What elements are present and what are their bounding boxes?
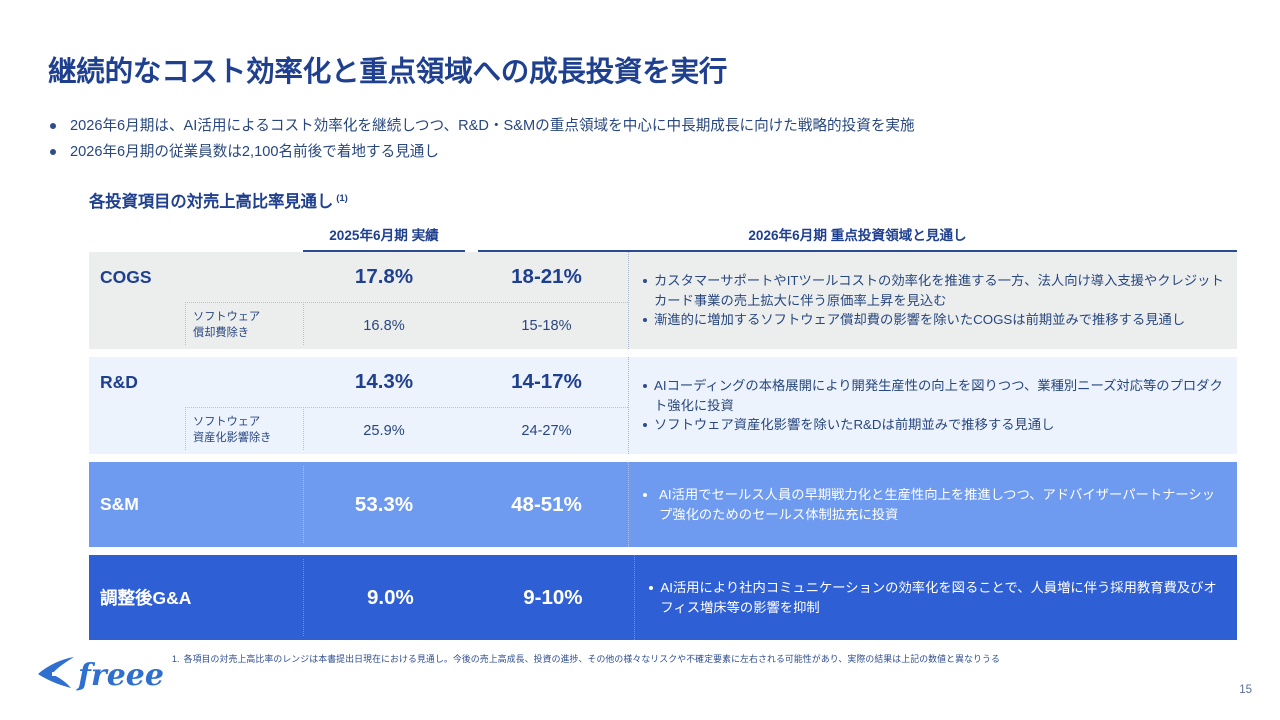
row-sublabel-spacer xyxy=(191,555,309,640)
slide-canvas: 継続的なコスト効率化と重点領域への成長投資を実行 2026年6月期は、AI活用に… xyxy=(0,0,1280,720)
note-text: 漸進的に増加するソフトウェア償却費の影響を除いたCOGSは前期並みで推移する見通… xyxy=(654,310,1227,330)
cell-outlook: 24-27% xyxy=(465,407,628,454)
bullet-text: 2026年6月期は、AI活用によるコスト効率化を継続しつつ、R&D・S&Mの重点… xyxy=(70,114,915,135)
cell-outlook: 18-21% xyxy=(465,252,628,302)
table-row-sub: ソフトウェア 資産化影響除き 25.9% 24-27% xyxy=(89,407,628,454)
cell-value: 16.8% xyxy=(363,318,404,334)
row-sublabel: ソフトウェア 償却費除き xyxy=(185,302,303,349)
logo-wordmark: freee xyxy=(76,658,164,693)
table-row: S&M 53.3% 48-51% AI活用でセールス人員の早期戦力化と生産性向上… xyxy=(89,462,1237,547)
cell-actual: 14.3% xyxy=(303,357,465,407)
cell-actual: 17.8% xyxy=(303,252,465,302)
bullet-list: 2026年6月期は、AI活用によるコスト効率化を継続しつつ、R&D・S&Mの重点… xyxy=(47,114,1237,166)
column-header-outlook: 2026年6月期 重点投資領域と見通し xyxy=(478,224,1237,252)
row-label-empty xyxy=(89,302,185,349)
table-row: R&D 14.3% 14-17% ソフトウェア 資産化影響除 xyxy=(89,357,1237,454)
cell-value: 9.0% xyxy=(367,586,414,610)
row-sublabel-spacer xyxy=(185,357,303,407)
note-text: ソフトウェア資産化影響を除いたR&Dは前期並みで推移する見通し xyxy=(654,415,1227,435)
cell-outlook: 14-17% xyxy=(465,357,628,407)
page-number: 15 xyxy=(1239,684,1252,696)
note-item: ソフトウェア資産化影響を除いたR&Dは前期並みで推移する見通し xyxy=(643,415,1227,435)
cell-value: 17.8% xyxy=(355,265,413,289)
cell-value: 24-27% xyxy=(521,423,571,439)
row-sublabel-line1: ソフトウェア xyxy=(193,310,303,325)
bullet-dot-icon xyxy=(649,586,653,590)
table-caption: 各投資項目の対売上高比率見通し(1) xyxy=(89,188,348,212)
table-row: 調整後G&A 9.0% 9-10% AI活用により社内コミュニケーションの効率化… xyxy=(89,555,1237,640)
note-item: AI活用により社内コミュニケーションの効率化を図ることで、人員増に伴う採用教育費… xyxy=(649,578,1227,617)
cell-actual: 25.9% xyxy=(303,407,465,454)
row-label: R&D xyxy=(89,357,185,407)
cell-value: 15-18% xyxy=(521,318,571,334)
row-label: COGS xyxy=(89,252,185,302)
bullet-text: 2026年6月期の従業員数は2,100名前後で着地する見通し xyxy=(70,140,439,161)
row-sublabel-line2: 償却費除き xyxy=(193,326,303,341)
bullet-dot-icon xyxy=(50,149,56,155)
table-row-main: 調整後G&A 9.0% 9-10% xyxy=(89,555,634,640)
row-sublabel-line1: ソフトウェア xyxy=(193,415,303,430)
cell-outlook: 15-18% xyxy=(465,302,628,349)
table-caption-text: 各投資項目の対売上高比率見通し xyxy=(89,193,333,211)
table-row-main: R&D 14.3% 14-17% xyxy=(89,357,628,407)
bullet-dot-icon xyxy=(643,384,647,388)
row-sublabel-spacer xyxy=(185,462,303,547)
note-item: AIコーディングの本格展開により開発生産性の向上を図りつつ、業種別ニーズ対応等の… xyxy=(643,376,1227,415)
cell-actual: 9.0% xyxy=(309,555,471,640)
cell-value: 18-21% xyxy=(511,265,582,289)
row-vertical-divider xyxy=(303,466,304,543)
cell-value: 53.3% xyxy=(355,493,413,517)
cell-outlook: 48-51% xyxy=(465,462,628,547)
bullet-dot-icon xyxy=(643,423,647,427)
cell-actual: 53.3% xyxy=(303,462,465,547)
row-vertical-divider xyxy=(303,559,304,636)
list-item: 2026年6月期の従業員数は2,100名前後で着地する見通し xyxy=(47,140,1237,166)
cell-actual: 16.8% xyxy=(303,302,465,349)
note-text: カスタマーサポートやITツールコストの効率化を推進する一方、法人向け導入支援やク… xyxy=(654,271,1227,310)
cell-notes: AI活用でセールス人員の早期戦力化と生産性向上を推進しつつ、アドバイザーパートナ… xyxy=(628,462,1237,547)
bullet-dot-icon xyxy=(643,279,647,283)
footnote-marker: (1) xyxy=(336,193,348,204)
row-sublabel-line2: 資産化影響除き xyxy=(193,431,303,446)
list-item: 2026年6月期は、AI活用によるコスト効率化を継続しつつ、R&D・S&Mの重点… xyxy=(47,114,1237,140)
column-header-actual: 2025年6月期 実績 xyxy=(303,224,465,252)
bullet-dot-icon xyxy=(643,493,647,497)
row-label: 調整後G&A xyxy=(89,555,191,640)
cell-value: 14.3% xyxy=(355,370,413,394)
page-title: 継続的なコスト効率化と重点領域への成長投資を実行 xyxy=(48,49,727,90)
investment-ratio-table: COGS 17.8% 18-21% ソフトウェア 償却費除き xyxy=(89,252,1237,648)
table-row-main: S&M 53.3% 48-51% xyxy=(89,462,628,547)
table-row: COGS 17.8% 18-21% ソフトウェア 償却費除き xyxy=(89,252,1237,349)
bullet-dot-icon xyxy=(50,123,56,129)
row-label-empty xyxy=(89,407,185,454)
row-label: S&M xyxy=(89,462,185,547)
note-text: AIコーディングの本格展開により開発生産性の向上を図りつつ、業種別ニーズ対応等の… xyxy=(654,376,1227,415)
table-row-main: COGS 17.8% 18-21% xyxy=(89,252,628,302)
footnote-text: 各項目の対売上高比率のレンジは本書提出日現在における見通し。今後の売上高成長、投… xyxy=(184,654,1000,664)
row-sublabel-spacer xyxy=(185,252,303,302)
cell-value: 9-10% xyxy=(523,586,582,610)
note-item: カスタマーサポートやITツールコストの効率化を推進する一方、法人向け導入支援やク… xyxy=(643,271,1227,310)
footnote: 1.各項目の対売上高比率のレンジは本書提出日現在における見通し。今後の売上高成長… xyxy=(172,652,1000,665)
cell-notes: AIコーディングの本格展開により開発生産性の向上を図りつつ、業種別ニーズ対応等の… xyxy=(628,357,1237,454)
cell-outlook: 9-10% xyxy=(471,555,634,640)
note-item: AI活用でセールス人員の早期戦力化と生産性向上を推進しつつ、アドバイザーパートナ… xyxy=(643,485,1227,524)
freee-logo: freee xyxy=(34,648,174,700)
cell-value: 25.9% xyxy=(363,423,404,439)
note-item: 漸進的に増加するソフトウェア償却費の影響を除いたCOGSは前期並みで推移する見通… xyxy=(643,310,1227,330)
note-text: AI活用でセールス人員の早期戦力化と生産性向上を推進しつつ、アドバイザーパートナ… xyxy=(659,485,1227,524)
table-row-sub: ソフトウェア 償却費除き 16.8% 15-18% xyxy=(89,302,628,349)
cell-notes: カスタマーサポートやITツールコストの効率化を推進する一方、法人向け導入支援やク… xyxy=(628,252,1237,349)
cell-value: 48-51% xyxy=(511,493,582,517)
bullet-dot-icon xyxy=(643,318,647,322)
cell-value: 14-17% xyxy=(511,370,582,394)
note-text: AI活用により社内コミュニケーションの効率化を図ることで、人員増に伴う採用教育費… xyxy=(660,578,1227,617)
row-sublabel: ソフトウェア 資産化影響除き xyxy=(185,407,303,454)
cell-notes: AI活用により社内コミュニケーションの効率化を図ることで、人員増に伴う採用教育費… xyxy=(634,555,1237,640)
